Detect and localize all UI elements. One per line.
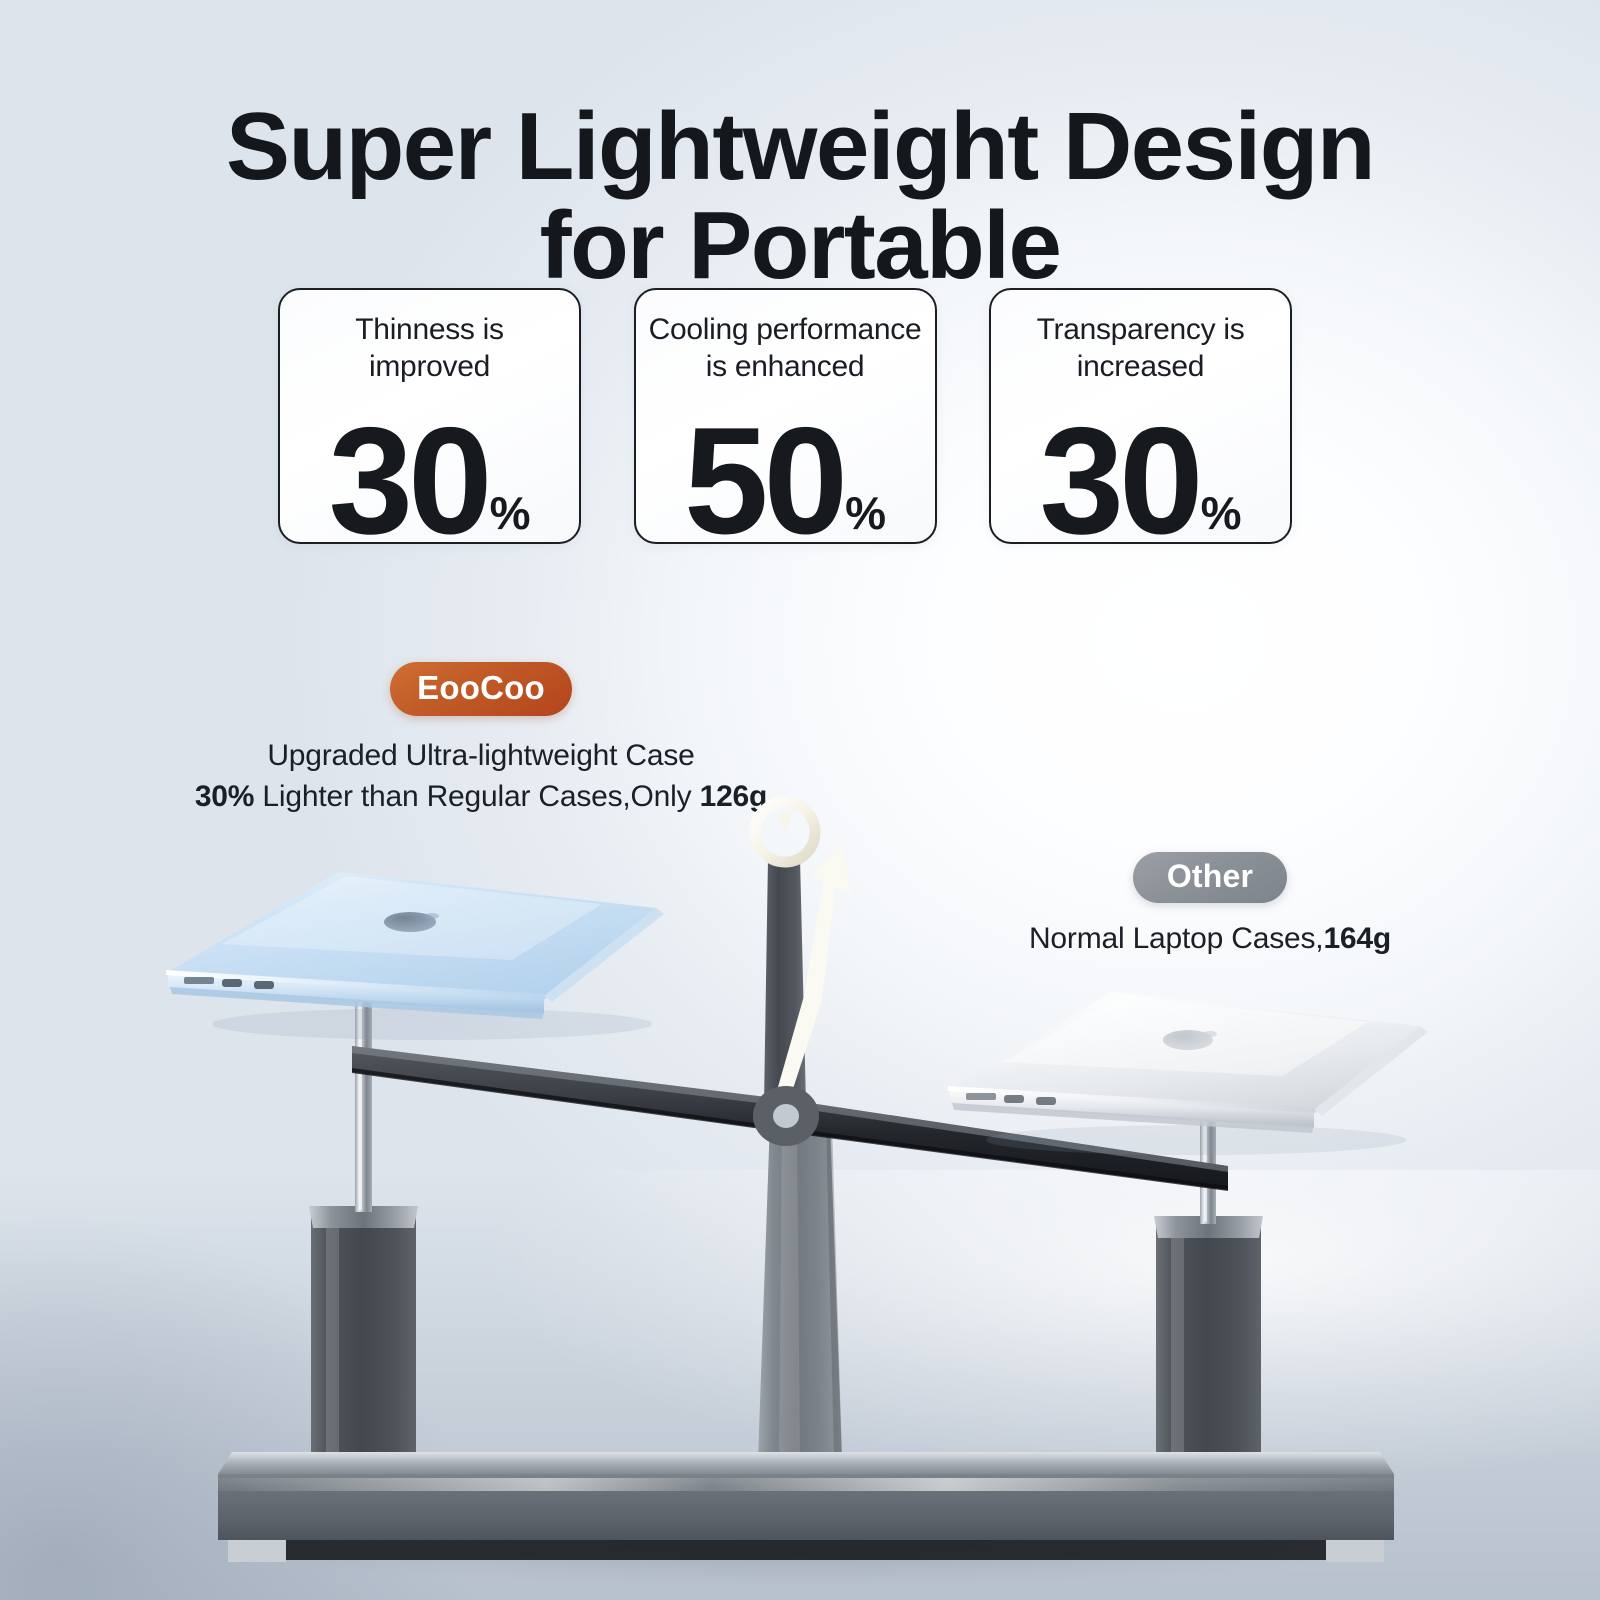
- stat-value-number: 30: [1040, 412, 1199, 544]
- headline-line-2: for Portable: [0, 197, 1600, 296]
- direction-arrow-up-right: [776, 843, 850, 1098]
- laptop-lid-highlight: [1002, 996, 1368, 1076]
- stat-card-value: 30 %: [280, 412, 579, 544]
- brand-line2-middle: Lighter than Regular Cases,Only: [254, 780, 699, 813]
- scale-beam-underside: [352, 1068, 1228, 1191]
- laptop-ports: [184, 977, 274, 989]
- other-line-text: Normal Laptop Cases,: [1029, 922, 1323, 955]
- scale-base-shadow-gap: [286, 1540, 1326, 1560]
- scale-left-pedestal-highlight: [326, 1218, 339, 1454]
- stat-caption-line-2: improved: [369, 350, 490, 383]
- scale-right-pedestal-highlight: [1171, 1228, 1184, 1454]
- laptop-right-edge: [544, 908, 664, 1002]
- apple-logo-icon: [1163, 1030, 1213, 1050]
- brand-comparison-block: EooCoo Upgraded Ultra-lightweight Case 3…: [176, 662, 786, 816]
- page-title: Super Lightweight Design for Portable: [0, 98, 1600, 296]
- scale-base-top-bevel: [218, 1452, 1394, 1474]
- scale-pivot-hub-inner: [773, 1104, 799, 1128]
- infographic-canvas: Super Lightweight Design for Portable Th…: [0, 0, 1600, 1600]
- stat-caption-line-1: Cooling performance: [649, 313, 922, 346]
- scale-pivot-hub: [753, 1086, 819, 1146]
- brand-weight-value: 126g: [700, 780, 768, 813]
- other-comparison-block: Other Normal Laptop Cases,164g: [1010, 852, 1410, 958]
- brand-percent-lighter: 30%: [195, 780, 254, 813]
- laptop-case-edge: [166, 970, 546, 999]
- apple-logo-leaf-icon: [1203, 1031, 1217, 1037]
- scale-center-column-edge: [826, 1124, 842, 1458]
- stat-card-value: 50 %: [636, 412, 935, 544]
- laptop-base-sliver: [170, 987, 544, 1019]
- scale-needle: [764, 858, 806, 1104]
- brand-description-line-2: 30% Lighter than Regular Cases,Only 126g: [176, 777, 786, 816]
- stat-card-caption: Transparency is increased: [997, 312, 1284, 385]
- laptop-case-edge: [948, 1086, 1316, 1113]
- laptop-lid-surface: [168, 872, 656, 996]
- stat-card-thinness: Thinness is improved 30 %: [278, 288, 581, 544]
- stat-card-caption: Thinness is improved: [286, 312, 573, 385]
- scale-left-support-rod: [355, 1000, 372, 1212]
- scale-base-foot-left: [228, 1540, 286, 1562]
- stat-card-value: 30 %: [991, 412, 1290, 544]
- scale-right-pedestal: [1156, 1222, 1261, 1460]
- scale-right-pedestal-cap: [1154, 1216, 1263, 1238]
- laptop-side-wall: [168, 972, 544, 1014]
- scale-left-rod-highlight: [359, 1002, 362, 1210]
- stat-value-unit: %: [1201, 490, 1242, 544]
- stat-caption-line-2: is enhanced: [706, 350, 865, 383]
- other-description-line: Normal Laptop Cases,164g: [1010, 919, 1410, 958]
- stat-card-transparency: Transparency is increased 30 %: [989, 288, 1292, 544]
- brand-badge-eoocoo: EooCoo: [390, 662, 572, 716]
- stat-value-unit: %: [845, 490, 886, 544]
- scale-right-rod-highlight: [1204, 1110, 1207, 1222]
- headline-line-1: Super Lightweight Design: [0, 98, 1600, 197]
- laptop-eoocoo-blue: [132, 856, 678, 1056]
- stat-caption-line-1: Transparency is: [1037, 313, 1245, 346]
- brand-description-line-1: Upgraded Ultra-lightweight Case: [176, 736, 786, 775]
- background-floor-shading: [0, 1170, 1600, 1600]
- stat-value-number: 30: [329, 412, 488, 544]
- stat-caption-line-1: Thinness is: [355, 313, 503, 346]
- laptop-other-silver: [916, 978, 1436, 1168]
- laptop-lid-surface: [950, 992, 1420, 1110]
- scale-center-column-highlight: [779, 1120, 800, 1460]
- scale-left-pedestal: [311, 1212, 416, 1460]
- brand-badge-other: Other: [1133, 852, 1287, 903]
- stat-card-group: Thinness is improved 30 % Cooling perfor…: [278, 288, 1292, 546]
- laptop-side-wall: [950, 1088, 1314, 1128]
- stat-value-unit: %: [490, 490, 531, 544]
- scale-ground-shadow: [190, 1492, 1410, 1588]
- scale-right-support-rod: [1200, 1108, 1216, 1224]
- scale-center-column: [758, 1120, 842, 1460]
- stat-value-number: 50: [684, 412, 843, 544]
- stat-caption-line-2: increased: [1077, 350, 1204, 383]
- laptop-base-sliver: [952, 1103, 1314, 1133]
- stat-card-cooling: Cooling performance is enhanced 50 %: [634, 288, 937, 544]
- laptop-lid-highlight: [222, 876, 602, 960]
- scale-left-pedestal-cap: [309, 1206, 418, 1228]
- stat-card-caption: Cooling performance is enhanced: [642, 312, 929, 385]
- scale-beam: [352, 1046, 1228, 1190]
- scale-base-specular-band: [218, 1478, 1394, 1491]
- background-left-shadow: [0, 1040, 560, 1600]
- scale-base-foot-right: [1326, 1540, 1384, 1562]
- apple-logo-icon: [384, 912, 436, 932]
- laptop-ports: [966, 1093, 1056, 1105]
- other-weight-value: 164g: [1323, 922, 1391, 955]
- scale-beam-top-highlight: [352, 1046, 1228, 1172]
- scale-base-body: [218, 1474, 1394, 1540]
- apple-logo-leaf-icon: [425, 913, 439, 919]
- laptop-right-edge: [1314, 1026, 1428, 1116]
